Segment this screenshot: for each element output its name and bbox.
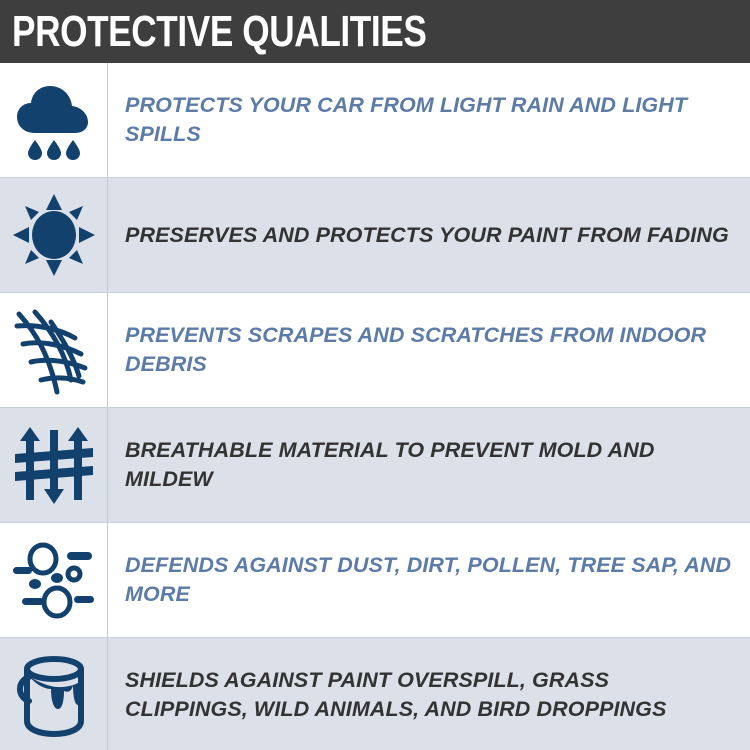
icon-cell bbox=[0, 293, 108, 407]
icon-cell bbox=[0, 408, 108, 522]
text-cell: PREVENTS SCRAPES AND SCRATCHES FROM INDO… bbox=[108, 321, 750, 379]
text-cell: PRESERVES AND PROTECTS YOUR PAINT FROM F… bbox=[108, 221, 750, 250]
list-item: SHIELDS AGAINST PAINT OVERSPILL, GRASS C… bbox=[0, 638, 750, 750]
rain-cloud-icon bbox=[11, 77, 97, 163]
text-cell: BREATHABLE MATERIAL TO PREVENT MOLD AND … bbox=[108, 436, 750, 494]
feature-list: PROTECTS YOUR CAR FROM LIGHT RAIN AND LI… bbox=[0, 63, 750, 750]
text-cell: DEFENDS AGAINST DUST, DIRT, POLLEN, TREE… bbox=[108, 551, 750, 609]
icon-cell bbox=[0, 638, 108, 750]
scratches-icon bbox=[9, 302, 99, 398]
list-item: PRESERVES AND PROTECTS YOUR PAINT FROM F… bbox=[0, 178, 750, 293]
list-item: PREVENTS SCRAPES AND SCRATCHES FROM INDO… bbox=[0, 293, 750, 408]
breathable-airflow-icon bbox=[11, 422, 97, 508]
list-item: DEFENDS AGAINST DUST, DIRT, POLLEN, TREE… bbox=[0, 523, 750, 638]
page-title: PROTECTIVE QUALITIES bbox=[12, 10, 426, 54]
list-item: BREATHABLE MATERIAL TO PREVENT MOLD AND … bbox=[0, 408, 750, 523]
header-bar: PROTECTIVE QUALITIES bbox=[0, 0, 750, 63]
list-item-label: PRESERVES AND PROTECTS YOUR PAINT FROM F… bbox=[125, 221, 736, 250]
icon-cell bbox=[0, 178, 108, 292]
list-item-label: BREATHABLE MATERIAL TO PREVENT MOLD AND … bbox=[125, 436, 736, 494]
icon-cell bbox=[0, 523, 108, 637]
sun-icon bbox=[11, 192, 97, 278]
icon-cell bbox=[0, 63, 108, 177]
text-cell: SHIELDS AGAINST PAINT OVERSPILL, GRASS C… bbox=[108, 666, 750, 724]
list-item-label: SHIELDS AGAINST PAINT OVERSPILL, GRASS C… bbox=[125, 666, 736, 724]
dust-particles-icon bbox=[10, 540, 98, 620]
list-item: PROTECTS YOUR CAR FROM LIGHT RAIN AND LI… bbox=[0, 63, 750, 178]
protective-qualities-infographic: PROTECTIVE QUALITIES PROTECTS YOUR CAR F… bbox=[0, 0, 750, 750]
list-item-label: DEFENDS AGAINST DUST, DIRT, POLLEN, TREE… bbox=[125, 551, 736, 609]
text-cell: PROTECTS YOUR CAR FROM LIGHT RAIN AND LI… bbox=[108, 91, 750, 149]
paint-can-icon bbox=[11, 651, 97, 739]
list-item-label: PROTECTS YOUR CAR FROM LIGHT RAIN AND LI… bbox=[125, 91, 736, 149]
list-item-label: PREVENTS SCRAPES AND SCRATCHES FROM INDO… bbox=[125, 321, 736, 379]
